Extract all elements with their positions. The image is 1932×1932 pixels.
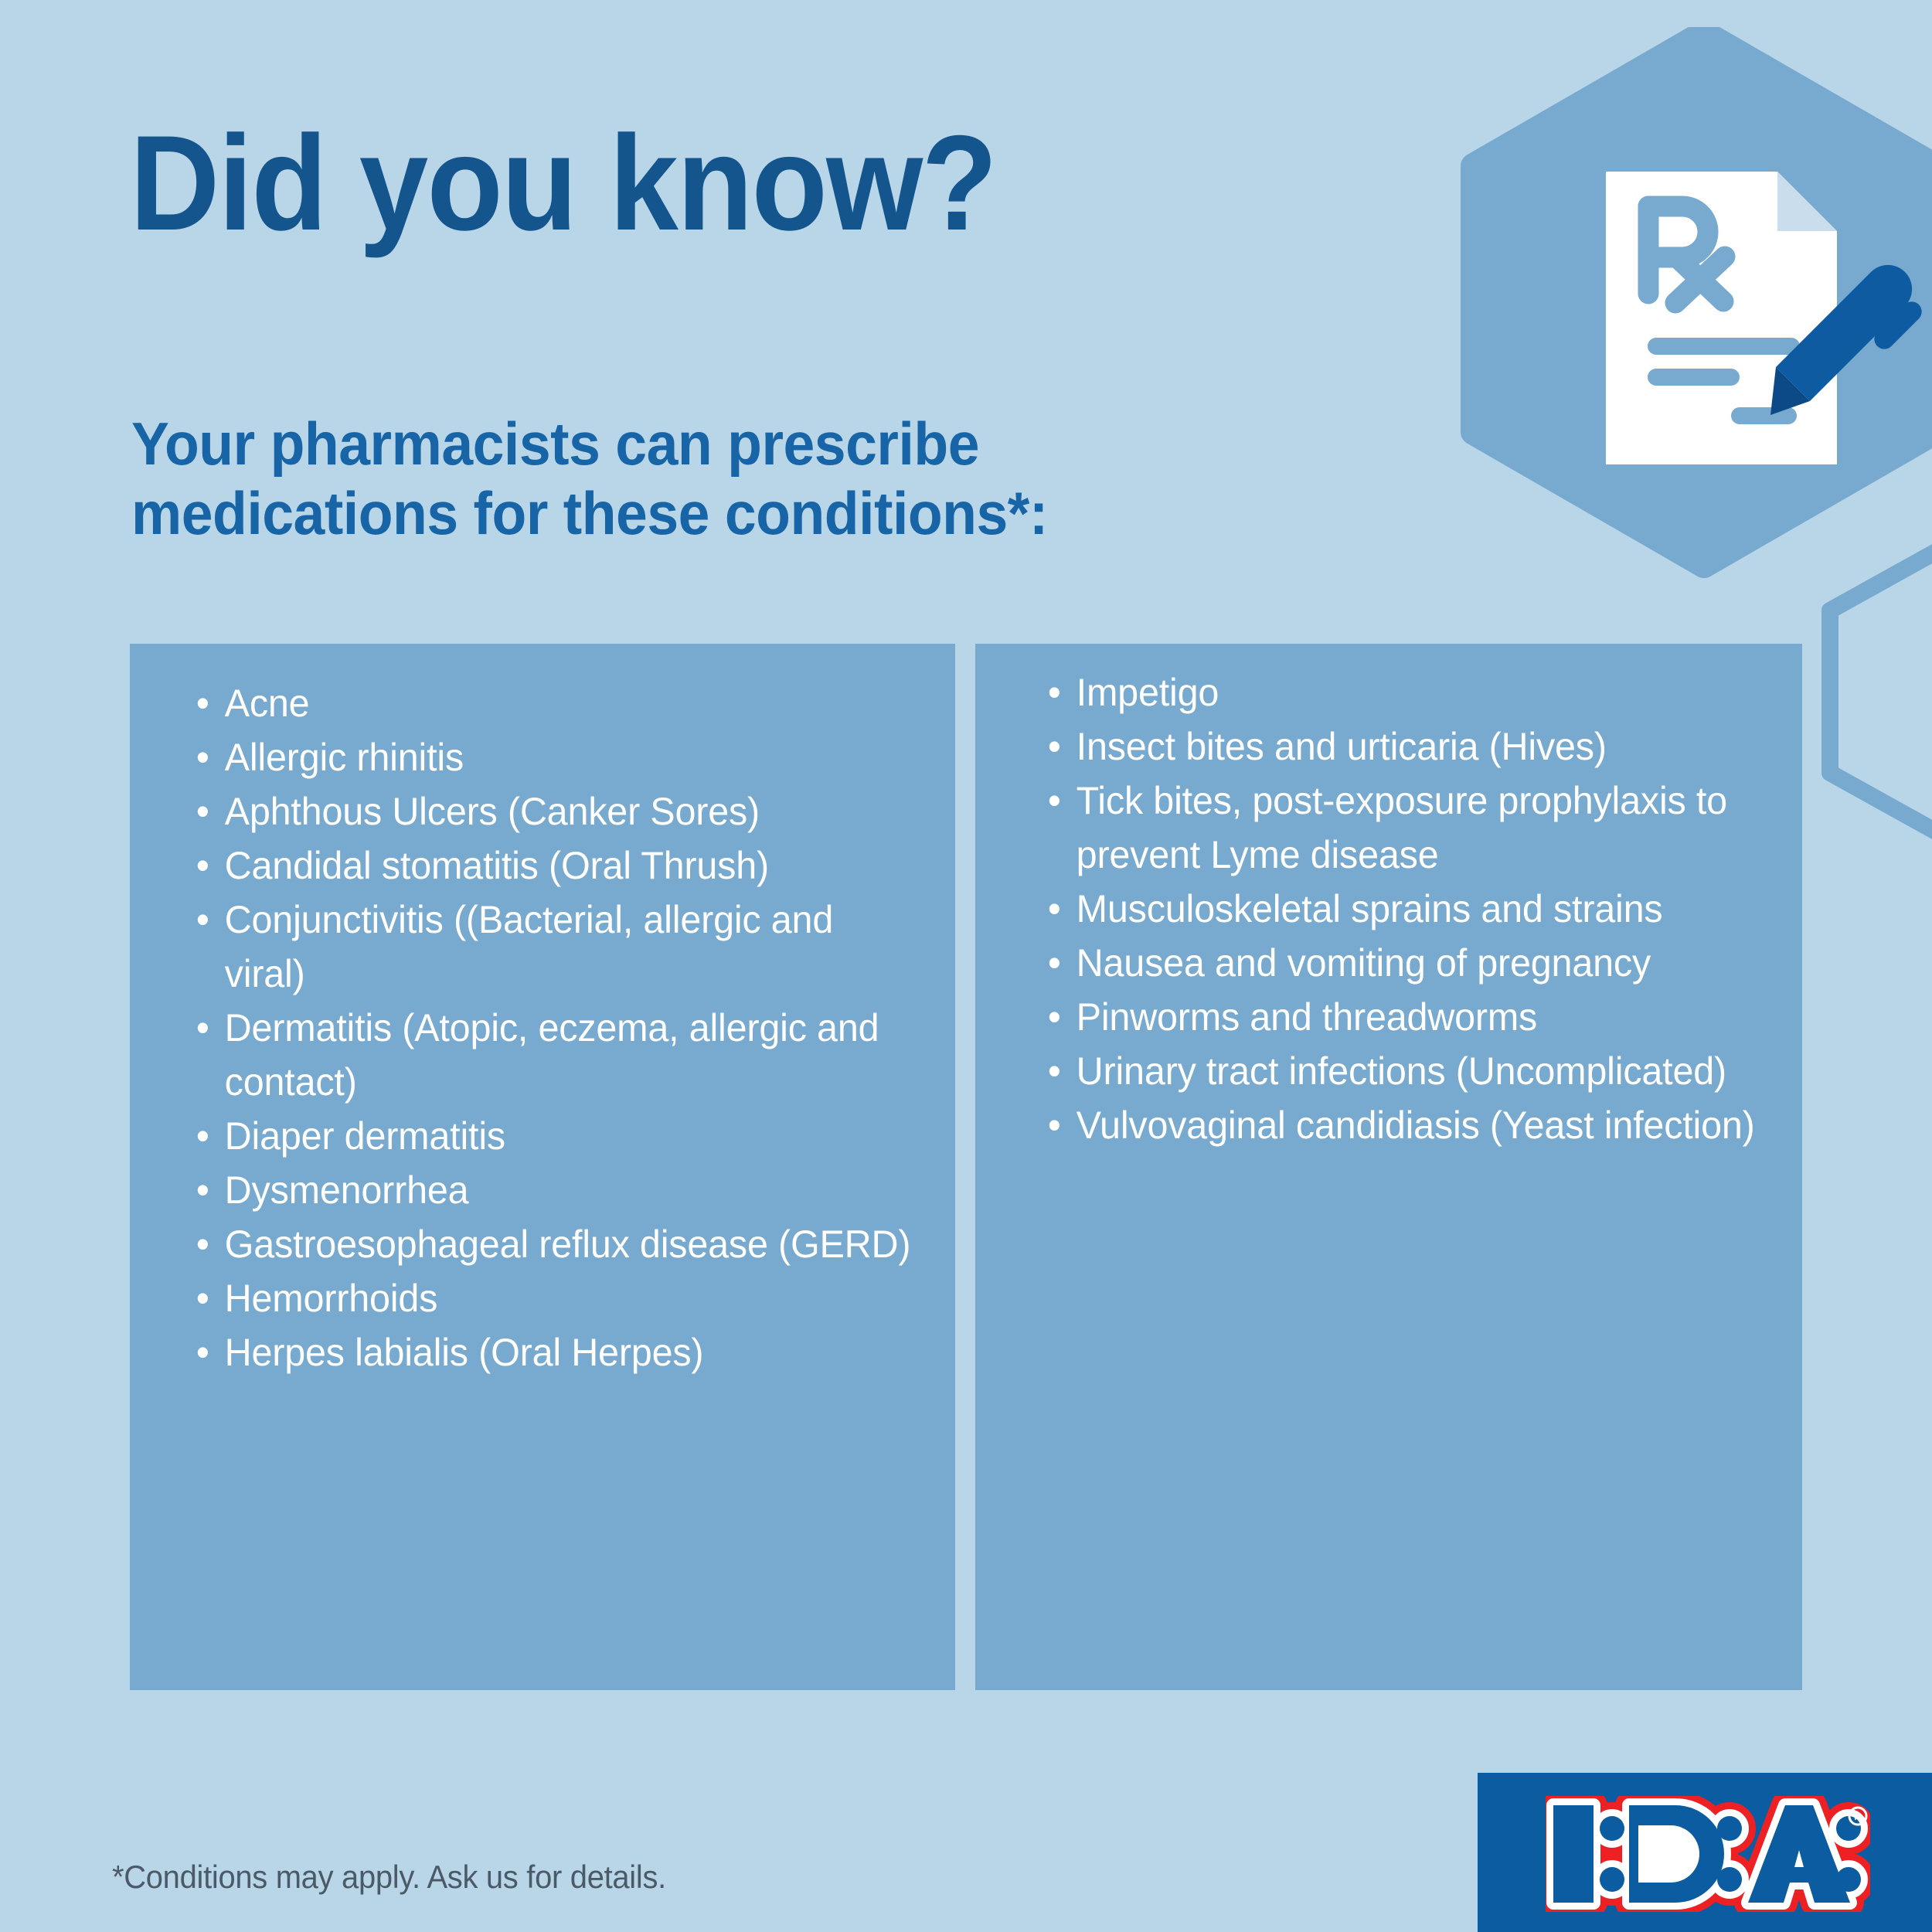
bullet-icon: • xyxy=(1048,1098,1061,1152)
bullet-icon: • xyxy=(1048,882,1061,936)
bullet-icon: • xyxy=(196,1109,209,1163)
condition-list-item: •Acne xyxy=(192,676,919,730)
conditions-panel-right: •Impetigo•Insect bites and urticaria (Hi… xyxy=(975,644,1802,1690)
bullet-icon: • xyxy=(196,1001,209,1055)
bullet-icon: • xyxy=(196,1217,209,1271)
bullet-icon: • xyxy=(196,1163,209,1217)
condition-label: Urinary tract infections (Uncomplicated) xyxy=(1077,1044,1766,1098)
svg-text:R: R xyxy=(1854,1810,1862,1822)
condition-list-item: •Musculoskeletal sprains and strains xyxy=(1043,882,1766,936)
ida-logo-block: R xyxy=(1478,1773,1932,1932)
condition-list-item: •Diaper dermatitis xyxy=(192,1109,919,1163)
condition-list-item: •Urinary tract infections (Uncomplicated… xyxy=(1043,1044,1766,1098)
ida-logo-icon: R xyxy=(1546,1796,1870,1912)
condition-label: Acne xyxy=(225,676,919,730)
condition-list-item: •Pinworms and threadworms xyxy=(1043,990,1766,1044)
condition-list-item: •Hemorrhoids xyxy=(192,1271,919,1325)
condition-list-item: •Aphthous Ulcers (Canker Sores) xyxy=(192,784,919,838)
prescription-document-icon xyxy=(1606,172,1837,464)
bullet-icon: • xyxy=(196,893,209,947)
condition-list-item: •Conjunctivitis ((Bacterial, allergic an… xyxy=(192,893,919,1001)
bullet-icon: • xyxy=(1048,1044,1061,1098)
condition-label: Herpes labialis (Oral Herpes) xyxy=(225,1325,919,1379)
condition-label: Insect bites and urticaria (Hives) xyxy=(1077,719,1766,774)
condition-label: Allergic rhinitis xyxy=(225,730,919,784)
subheading-line-2: medications for these conditions*: xyxy=(131,479,1076,549)
bullet-icon: • xyxy=(196,1271,209,1325)
conditions-list-left: •Acne•Allergic rhinitis•Aphthous Ulcers … xyxy=(192,676,941,1379)
condition-label: Musculoskeletal sprains and strains xyxy=(1077,882,1766,936)
condition-label: Conjunctivitis ((Bacterial, allergic and… xyxy=(225,893,919,1001)
condition-label: Aphthous Ulcers (Canker Sores) xyxy=(225,784,919,838)
condition-label: Dermatitis (Atopic, eczema, allergic and… xyxy=(225,1001,919,1109)
subheading-line-1: Your pharmacists can prescribe xyxy=(131,410,1076,479)
condition-list-item: •Nausea and vomiting of pregnancy xyxy=(1043,936,1766,990)
bullet-icon: • xyxy=(1048,936,1061,990)
condition-label: Gastroesophageal reflux disease (GERD) xyxy=(225,1217,919,1271)
condition-label: Dysmenorrhea xyxy=(225,1163,919,1217)
condition-list-item: •Herpes labialis (Oral Herpes) xyxy=(192,1325,919,1379)
subheading: Your pharmacists can prescribe medicatio… xyxy=(131,410,1076,548)
page-title: Did you know? xyxy=(130,116,996,251)
footnote-disclaimer: *Conditions may apply. Ask us for detail… xyxy=(112,1859,666,1896)
bullet-icon: • xyxy=(196,784,209,838)
bullet-icon: • xyxy=(196,838,209,893)
condition-label: Candidal stomatitis (Oral Thrush) xyxy=(225,838,919,893)
condition-list-item: •Tick bites, post-exposure prophylaxis t… xyxy=(1043,774,1766,882)
bullet-icon: • xyxy=(1048,774,1061,828)
conditions-list-right: •Impetigo•Insect bites and urticaria (Hi… xyxy=(1043,665,1788,1152)
bullet-icon: • xyxy=(196,1325,209,1379)
condition-list-item: •Impetigo xyxy=(1043,665,1766,719)
condition-list-item: •Gastroesophageal reflux disease (GERD) xyxy=(192,1217,919,1271)
bullet-icon: • xyxy=(1048,990,1061,1044)
bullet-icon: • xyxy=(196,676,209,730)
condition-label: Vulvovaginal candidiasis (Yeast infectio… xyxy=(1077,1098,1766,1152)
hexagon-badge xyxy=(1457,27,1932,638)
condition-list-item: •Vulvovaginal candidiasis (Yeast infecti… xyxy=(1043,1098,1766,1152)
condition-list-item: •Candidal stomatitis (Oral Thrush) xyxy=(192,838,919,893)
condition-label: Impetigo xyxy=(1077,665,1766,719)
condition-label: Tick bites, post-exposure prophylaxis to… xyxy=(1077,774,1766,882)
bullet-icon: • xyxy=(196,730,209,784)
condition-label: Nausea and vomiting of pregnancy xyxy=(1077,936,1766,990)
condition-list-item: •Dermatitis (Atopic, eczema, allergic an… xyxy=(192,1001,919,1109)
condition-label: Pinworms and threadworms xyxy=(1077,990,1766,1044)
bullet-icon: • xyxy=(1048,719,1061,774)
conditions-panel-left: •Acne•Allergic rhinitis•Aphthous Ulcers … xyxy=(130,644,955,1690)
condition-list-item: •Dysmenorrhea xyxy=(192,1163,919,1217)
condition-label: Hemorrhoids xyxy=(225,1271,919,1325)
condition-label: Diaper dermatitis xyxy=(225,1109,919,1163)
condition-list-item: •Insect bites and urticaria (Hives) xyxy=(1043,719,1766,774)
bullet-icon: • xyxy=(1048,665,1061,719)
condition-list-item: •Allergic rhinitis xyxy=(192,730,919,784)
